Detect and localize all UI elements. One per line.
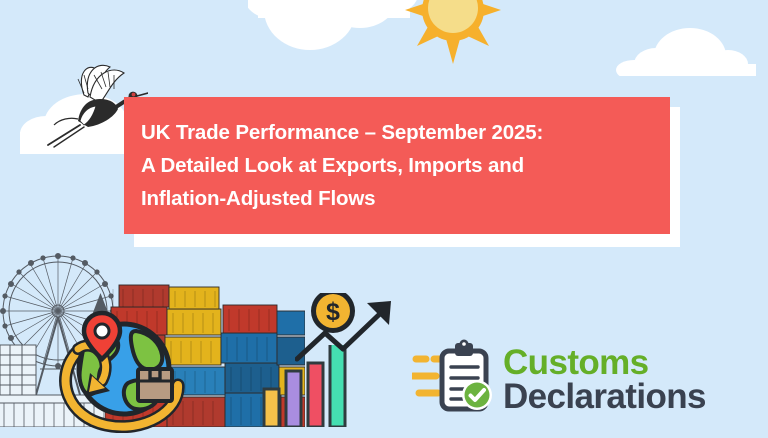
title-banner: UK Trade Performance – September 2025: A… [124, 97, 680, 247]
parcel-icon [138, 369, 172, 401]
globe-route-parcel-icon [58, 307, 190, 438]
cloud-icon [612, 14, 764, 76]
page-title: UK Trade Performance – September 2025: A… [124, 116, 561, 216]
dollar-coin-icon: $ [311, 293, 355, 333]
banner-body: UK Trade Performance – September 2025: A… [124, 97, 670, 234]
sun-icon [405, 0, 501, 75]
brand-logo[interactable]: Customs Declarations [412, 337, 764, 423]
hero-illustration: $ [0, 242, 420, 432]
logo-word-customs: Customs [503, 346, 706, 380]
growth-arrow-icon: $ [295, 293, 415, 384]
svg-text:$: $ [326, 298, 340, 326]
chart-bar [264, 389, 279, 427]
clipboard-check-icon [412, 339, 494, 422]
cloud-icon [248, 0, 418, 56]
logo-word-declarations: Declarations [503, 380, 706, 414]
